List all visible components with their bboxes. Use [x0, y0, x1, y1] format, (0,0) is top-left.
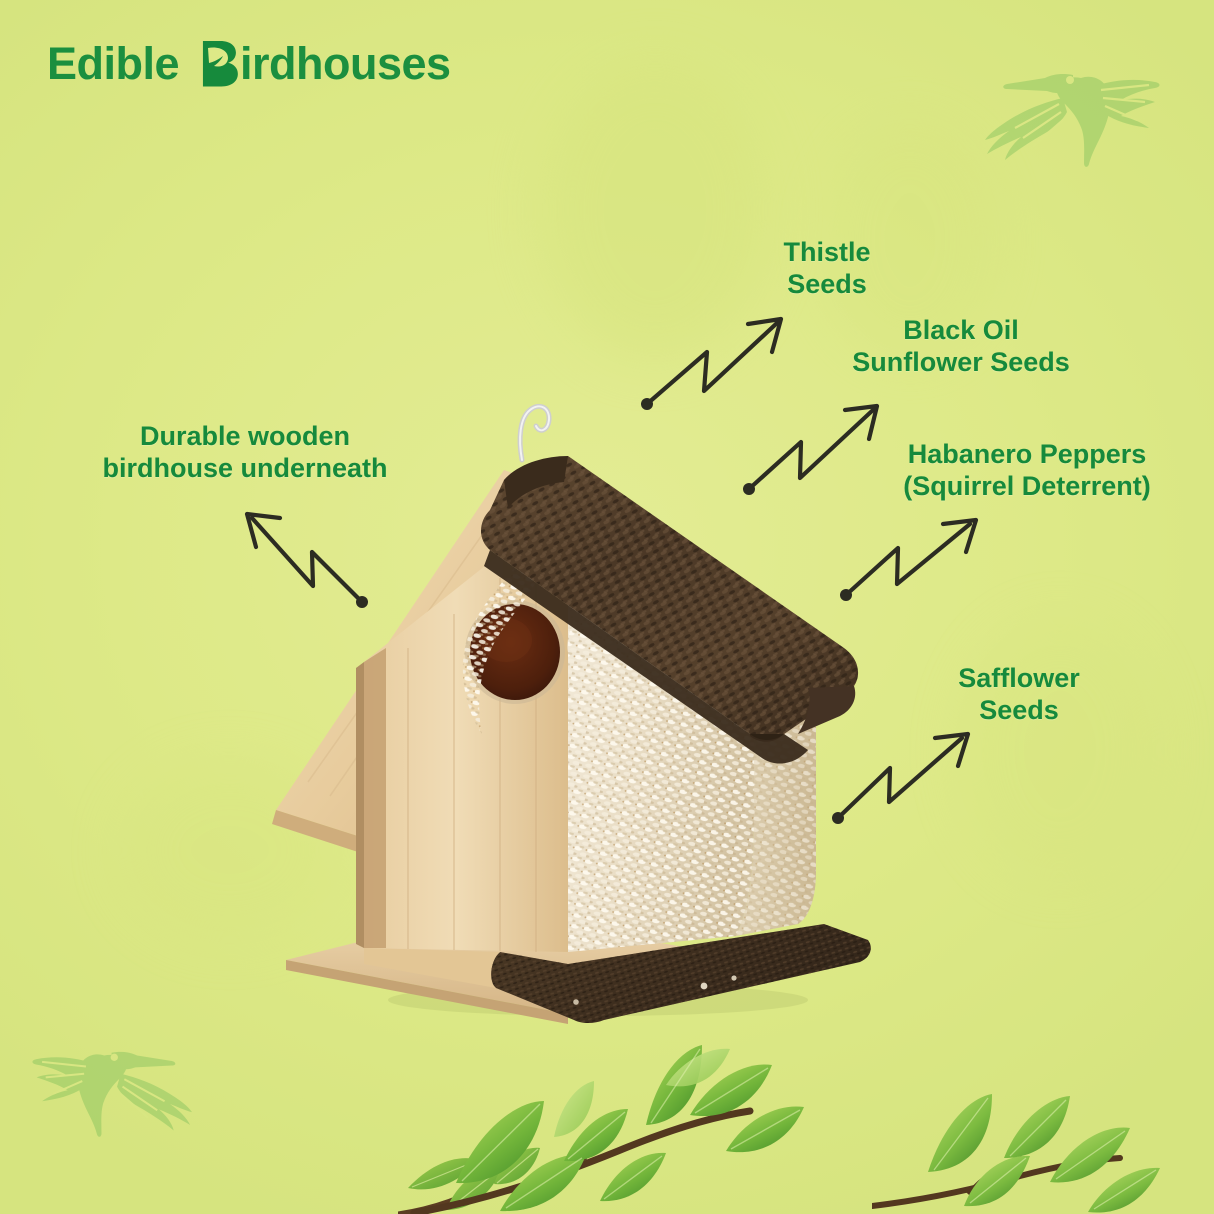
leafy-branch-image — [404, 1005, 834, 1214]
callout-label-habanero-peppers: Habanero Peppers (Squirrel Deterrent) — [858, 438, 1196, 503]
hummingbird-icon — [985, 42, 1160, 172]
callout-label-black-oil-sunflower: Black Oil Sunflower Seeds — [812, 314, 1110, 379]
wire-hanging-hook — [520, 406, 549, 460]
callout-label-durable-wooden: Durable wooden birdhouse underneath — [58, 420, 432, 485]
bg-texture-blob — [540, 60, 770, 360]
leaf-bird-b-icon — [201, 39, 239, 89]
leafy-branch-image — [872, 1048, 1214, 1214]
bg-texture-blob — [960, 620, 1160, 880]
brand-logo[interactable]: Edible irdhouses — [47, 38, 451, 90]
hummingbird-icon — [32, 1022, 192, 1142]
callout-label-safflower: Safflower Seeds — [906, 662, 1132, 727]
brand-word-edible: Edible — [47, 38, 179, 90]
brand-word-birdhouses: irdhouses — [240, 38, 451, 90]
callout-label-thistle: Thistle Seeds — [744, 236, 910, 301]
infographic-canvas: Edible irdhouses — [0, 0, 1214, 1214]
